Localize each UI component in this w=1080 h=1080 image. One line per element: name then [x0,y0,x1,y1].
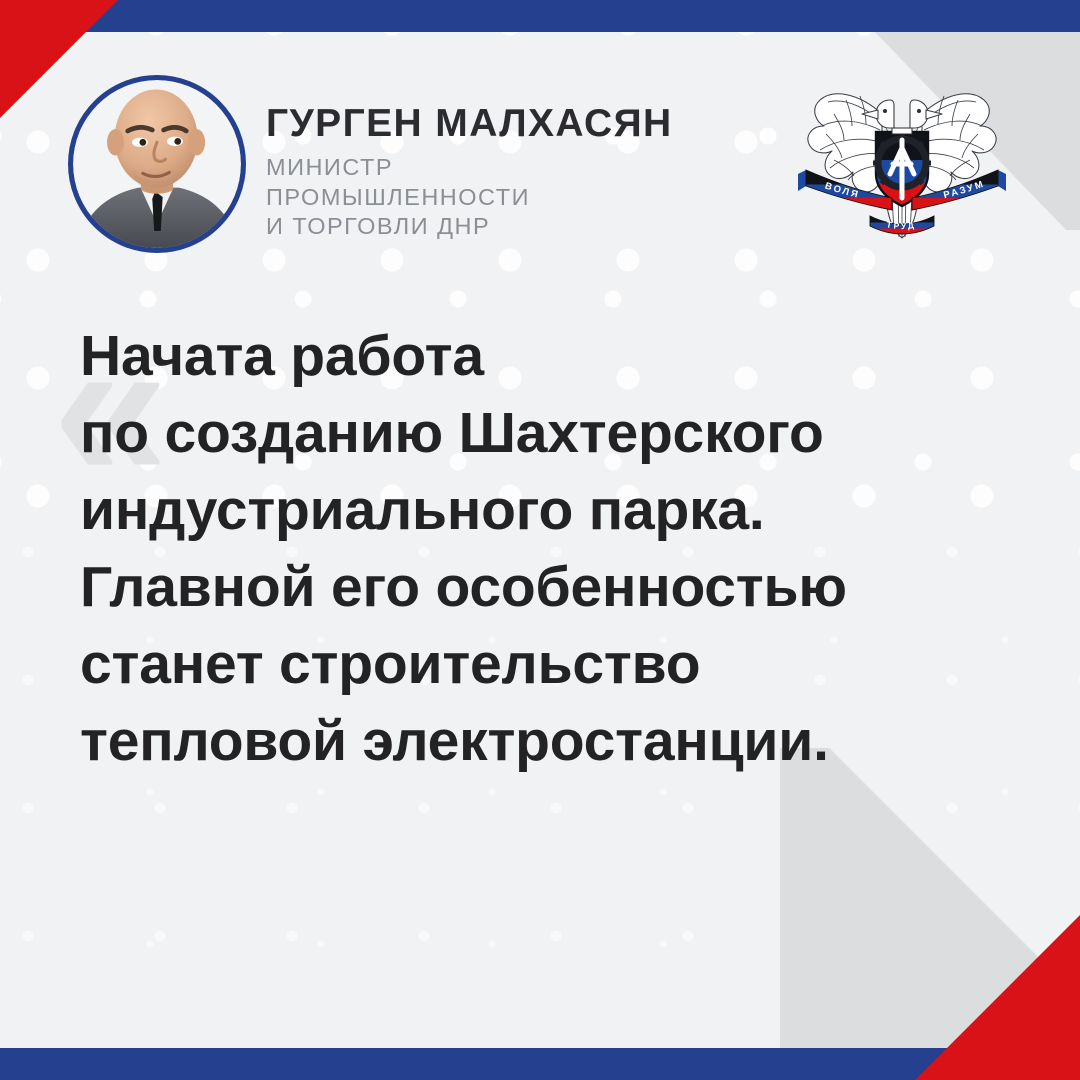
avatar-photo [73,80,241,248]
top-blue-bar [66,0,1080,32]
quote-text: Начата работа по созданию Шахтерского ин… [80,318,1020,780]
quote-line-4: Главной его особенностью [80,549,1020,626]
bottom-right-red-triangle [915,915,1080,1080]
avatar [68,75,246,253]
dnr-coat-of-arms-emblem: ВОЛЯ РАЗУМ ТРУД [786,70,1018,242]
quote-block: « Начата работа по созданию Шахтерского … [80,318,1020,780]
quote-line-6: тепловой электростанции. [80,703,1020,780]
quote-line-3: индустриального парка. [80,472,1020,549]
speaker-identity: ГУРГЕН МАЛХАСЯН МИНИСТР ПРОМЫШЛЕННОСТИ И… [266,104,673,242]
speaker-role-line-3: И ТОРГОВЛИ ДНР [266,212,673,242]
speaker-role: МИНИСТР ПРОМЫШЛЕННОСТИ И ТОРГОВЛИ ДНР [266,153,673,242]
quote-card: ГУРГЕН МАЛХАСЯН МИНИСТР ПРОМЫШЛЕННОСТИ И… [0,0,1080,1080]
quote-line-1: Начата работа [80,318,1020,395]
speaker-header: ГУРГЕН МАЛХАСЯН МИНИСТР ПРОМЫШЛЕННОСТИ И… [60,62,1040,282]
quote-line-2: по созданию Шахтерского [80,395,1020,472]
quote-line-5: станет строительство [80,626,1020,703]
speaker-role-line-2: ПРОМЫШЛЕННОСТИ [266,183,673,213]
speaker-name: ГУРГЕН МАЛХАСЯН [266,104,673,145]
speaker-role-line-1: МИНИСТР [266,153,673,183]
